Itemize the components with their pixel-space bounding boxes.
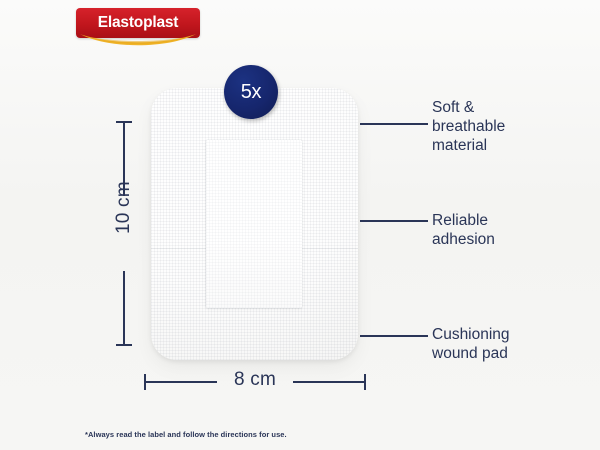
product-image-canvas: Elastoplast 5x Soft & breathable materia… [0,0,600,450]
annotation-soft-breathable-material: Soft & breathable material [432,98,592,155]
leader-line-soft-breathable [360,123,428,125]
pack-count-label: 5x [241,82,262,102]
dimension-width-label: 8 cm [144,369,366,391]
brand-logo: Elastoplast [76,8,200,50]
annotation-cushioning-wound-pad: Cushioning wound pad [432,325,592,363]
dimension-height-stem-lower [123,271,125,345]
pack-count-badge: 5x [224,65,278,119]
wound-pad [206,140,302,308]
annotation-reliable-adhesion: Reliable adhesion [432,211,592,249]
wound-pad-texture [206,140,302,308]
dimension-height: 10 cm [116,121,132,346]
brand-swoosh-icon [78,33,198,49]
leader-line-reliable-adhesion [360,220,428,222]
dimension-height-label: 10 cm [113,194,135,234]
leader-line-cushioning-pad [360,335,428,337]
plaster-body [151,88,358,360]
legal-footnote: *Always read the label and follow the di… [85,430,287,439]
dimension-height-cap-bottom [116,344,132,346]
dimension-width: 8 cm [144,374,366,390]
